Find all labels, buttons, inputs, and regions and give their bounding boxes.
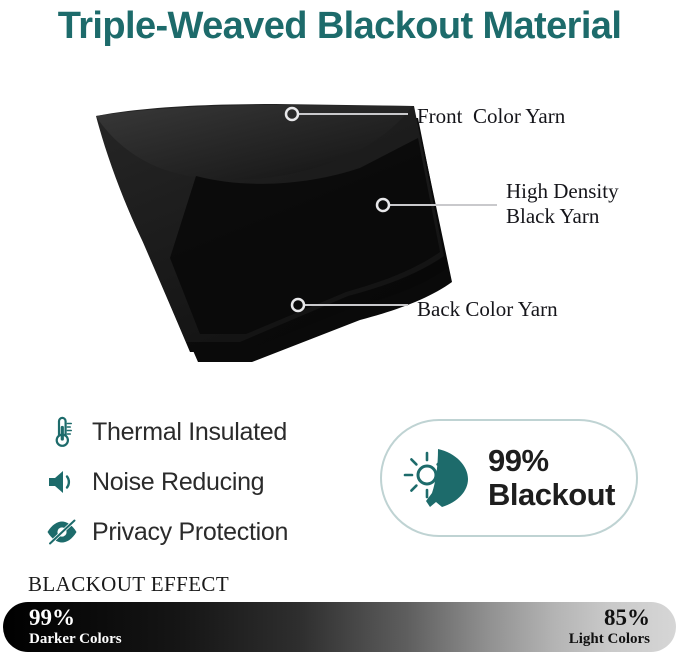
blackout-effect-gradient-bar: 99% Darker Colors 85% Light Colors [3, 602, 676, 652]
eye-off-icon [40, 518, 84, 546]
feature-label: Thermal Insulated [92, 418, 287, 447]
blackout-effect-left-caption: Darker Colors [29, 630, 122, 648]
thermometer-icon [40, 415, 84, 449]
blackout-effect-right-caption: Light Colors [569, 630, 650, 648]
callout-label-front-color-yarn: Front Color Yarn [417, 104, 565, 129]
blackout-percent: 99% [488, 444, 615, 478]
blackout-effect-heading: BLACKOUT EFFECT [28, 572, 229, 597]
blackout-label: Blackout [488, 478, 615, 512]
blackout-badge-text: 99% Blackout [488, 444, 615, 512]
callout-label-back-color-yarn: Back Color Yarn [417, 297, 558, 322]
blackout-effect-left-percent: 99% [29, 606, 122, 630]
blackout-badge: 99% Blackout [380, 419, 638, 537]
feature-label: Noise Reducing [92, 468, 264, 497]
blackout-effect-right-percent: 85% [569, 606, 650, 630]
blackout-effect-left: 99% Darker Colors [29, 602, 122, 652]
callout-label-high-density-black-yarn: High Density Black Yarn [506, 179, 619, 229]
sun-blocked-icon [382, 441, 488, 515]
feature-item-noise-reducing: Noise Reducing [40, 460, 360, 504]
feature-list: Thermal Insulated Noise Reducing Privacy… [40, 410, 360, 560]
blackout-effect-right: 85% Light Colors [569, 602, 650, 652]
feature-label: Privacy Protection [92, 518, 288, 547]
feature-item-thermal-insulated: Thermal Insulated [40, 410, 360, 454]
speaker-icon [40, 468, 84, 496]
page-title: Triple-Weaved Blackout Material [0, 0, 679, 48]
feature-item-privacy-protection: Privacy Protection [40, 510, 360, 554]
